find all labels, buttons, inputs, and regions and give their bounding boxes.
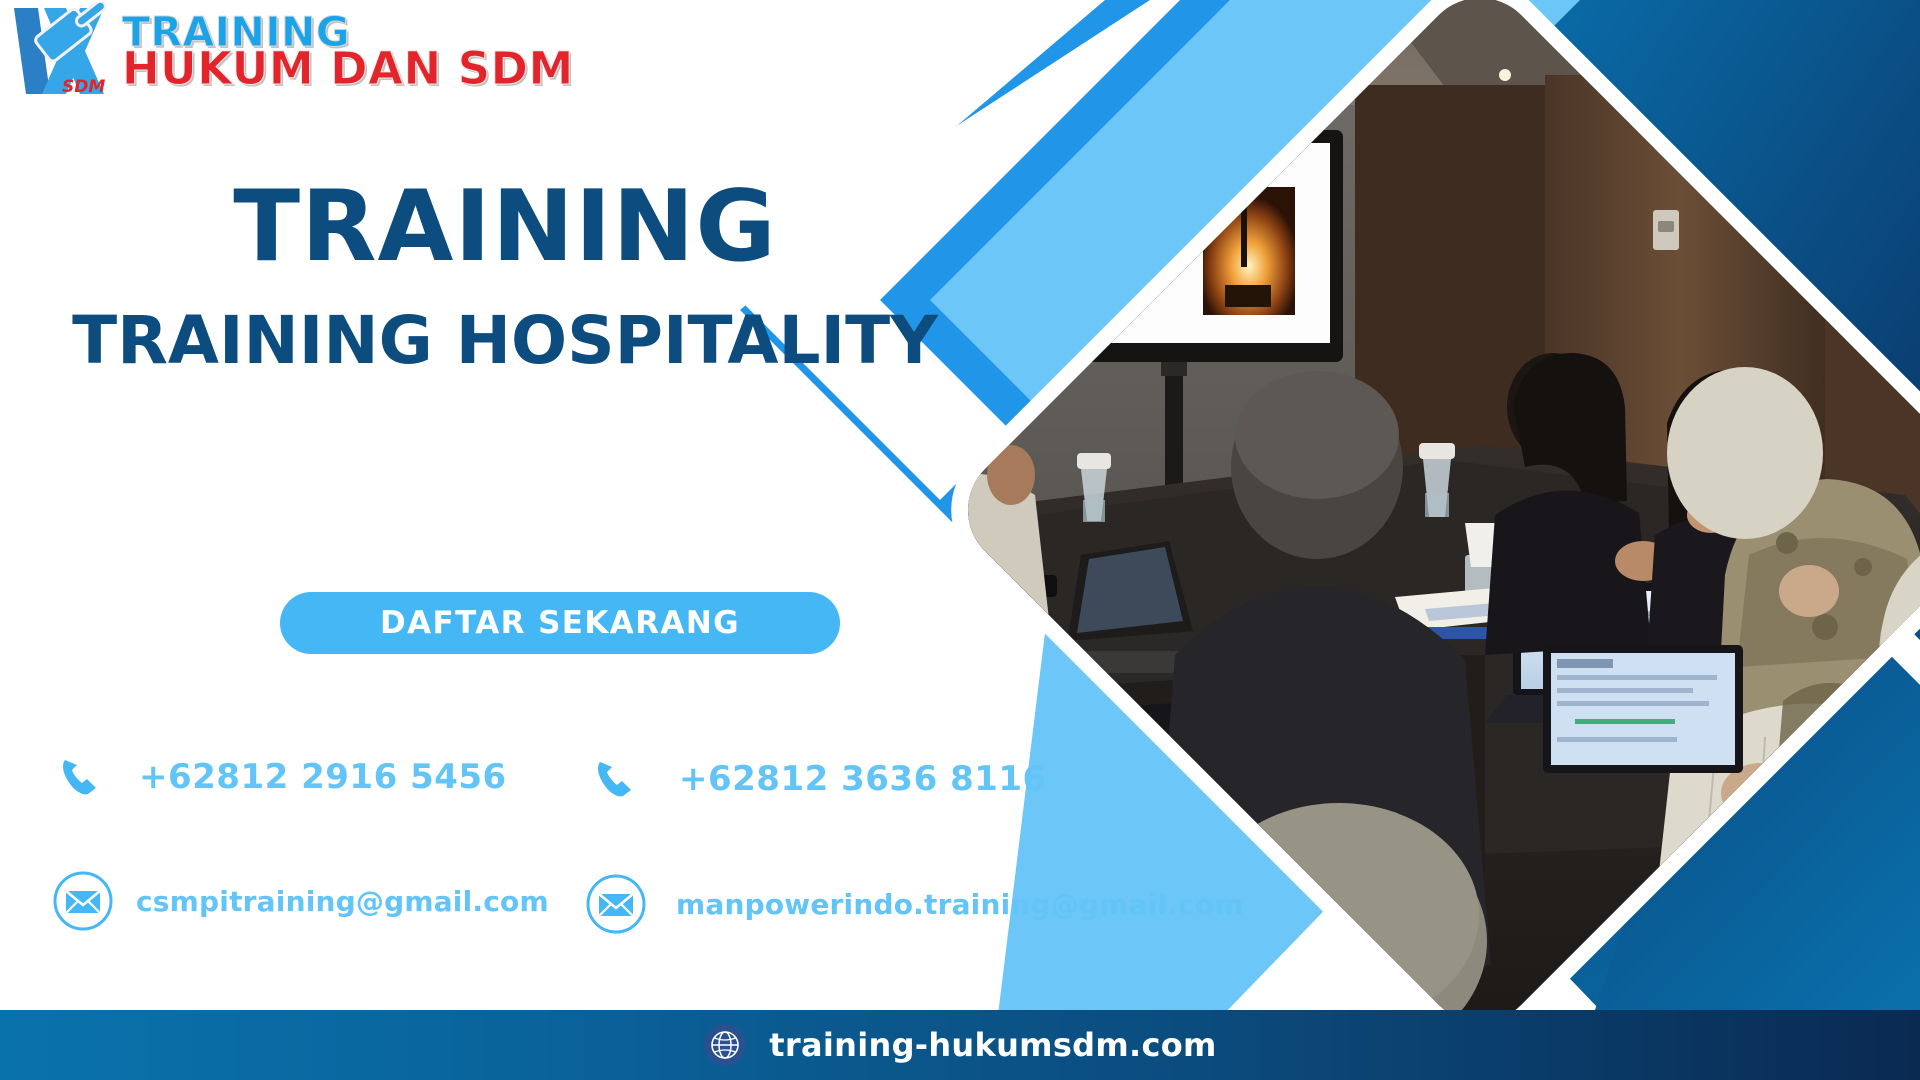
brand-logo[interactable]: SDM TRAINING HUKUM DAN SDM bbox=[8, 2, 574, 102]
page-title: TRAINING bbox=[0, 178, 1010, 276]
hero-content: TRAINING TRAINING HOSPITALITY DAFTAR SEK… bbox=[0, 0, 1180, 1080]
gavel-h-icon-svg: SDM bbox=[8, 2, 120, 102]
logo-line-hukum-sdm: HUKUM DAN SDM bbox=[122, 50, 574, 89]
contact-phone-2[interactable]: +62812 3636 8116 bbox=[595, 757, 1047, 801]
contact-email-2[interactable]: manpowerindo.training@gmail.com bbox=[585, 873, 1244, 935]
envelope-icon bbox=[52, 870, 114, 932]
footer-url-text: training-hukumsdm.com bbox=[769, 1026, 1216, 1064]
svg-text:SDM: SDM bbox=[62, 77, 105, 97]
envelope-icon-svg bbox=[585, 873, 647, 935]
phone-number-2: +62812 3636 8116 bbox=[679, 759, 1047, 799]
contact-phone-1[interactable]: +62812 2916 5456 bbox=[60, 755, 507, 799]
phone-icon-svg bbox=[60, 755, 102, 799]
footer-bar: training-hukumsdm.com bbox=[0, 1010, 1920, 1080]
email-address-2: manpowerindo.training@gmail.com bbox=[676, 888, 1244, 921]
gavel-h-icon: SDM bbox=[8, 2, 120, 102]
register-now-button[interactable]: DAFTAR SEKARANG bbox=[280, 592, 840, 654]
envelope-icon-svg bbox=[52, 870, 114, 932]
logo-wordmark: TRAINING HUKUM DAN SDM bbox=[122, 15, 574, 89]
phone-number-1: +62812 2916 5456 bbox=[139, 757, 507, 797]
globe-icon-svg bbox=[703, 1023, 747, 1067]
email-address-1: csmpitraining@gmail.com bbox=[136, 885, 549, 918]
phone-icon bbox=[60, 755, 102, 799]
page-subtitle: TRAINING HOSPITALITY bbox=[0, 308, 1010, 374]
envelope-icon bbox=[585, 873, 647, 935]
globe-icon bbox=[703, 1023, 747, 1067]
phone-icon-svg bbox=[595, 757, 637, 801]
footer-website-link[interactable]: training-hukumsdm.com bbox=[703, 1023, 1216, 1067]
phone-icon bbox=[595, 757, 637, 801]
contact-email-1[interactable]: csmpitraining@gmail.com bbox=[52, 870, 549, 932]
